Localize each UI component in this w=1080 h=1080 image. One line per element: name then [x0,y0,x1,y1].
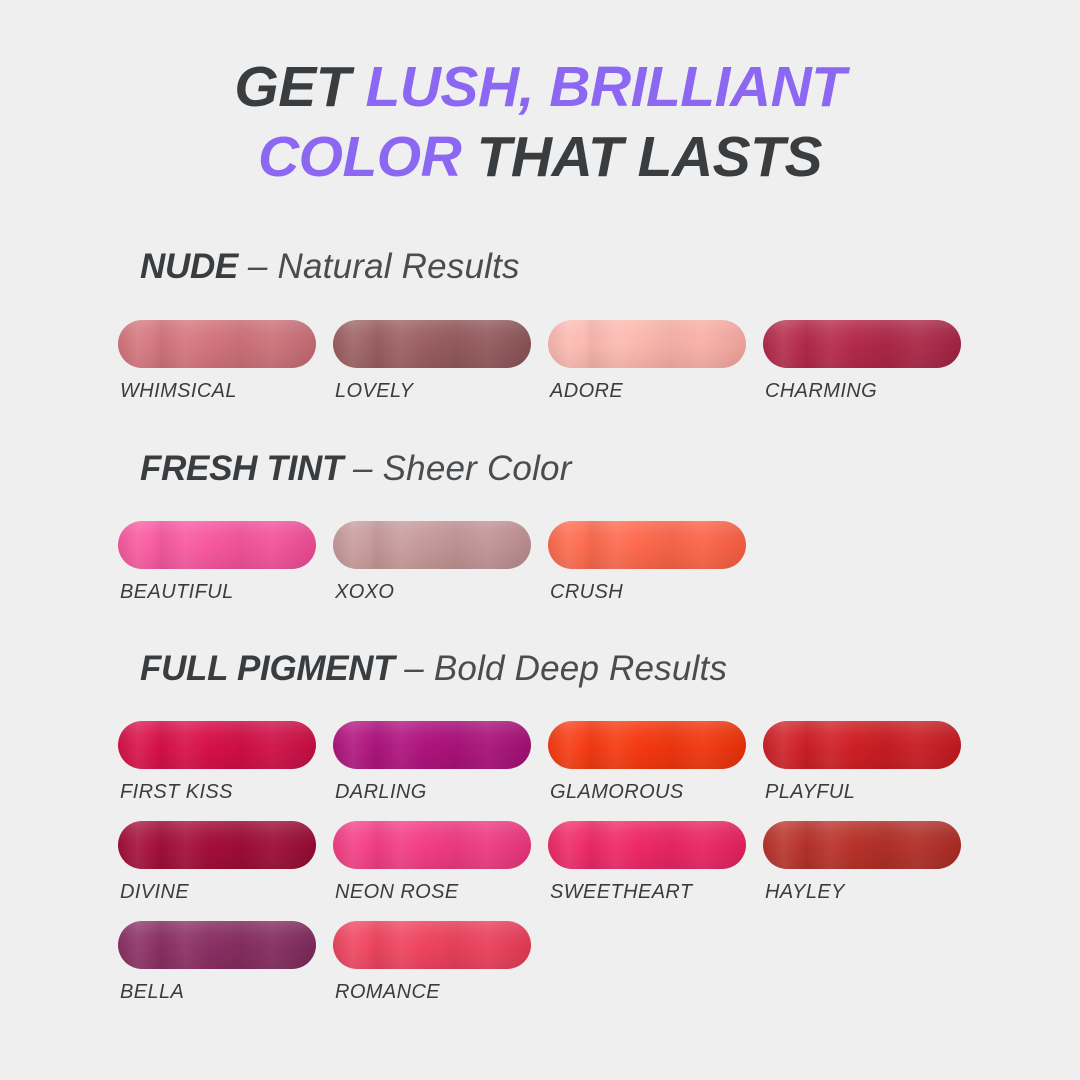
swatch-cell[interactable]: XOXO [333,521,548,621]
swatch-label: PLAYFUL [765,781,855,804]
swatch-label: CRUSH [550,581,623,604]
headline-text-lush-brilliant: LUSH, BRILLIANT [365,55,845,119]
swatch-label: DARLING [335,781,427,804]
swatch-chip-beautiful[interactable] [118,521,316,569]
section-heading-fresh-tint: FRESH TINT – Sheer Color [140,446,572,492]
swatch-chip-whimsical[interactable] [118,320,316,368]
swatch-label: BEAUTIFUL [120,581,234,604]
category-description-nude: – Natural Results [238,247,520,286]
headline-text-get: GET [234,55,365,119]
swatch-cell[interactable]: ROMANCE [333,921,548,1021]
swatch-chip-sweetheart[interactable] [548,821,746,869]
category-label-nude: NUDE [140,247,238,286]
swatch-cell[interactable]: NEON ROSE [333,821,548,921]
section-heading-full-pigment: FULL PIGMENT – Bold Deep Results [140,646,727,692]
swatch-label: ROMANCE [335,981,440,1004]
headline-line-2: COLOR THAT LASTS [0,122,1080,192]
category-label-full-pigment: FULL PIGMENT [140,649,394,688]
swatch-label: FIRST KISS [120,781,233,804]
category-description-full-pigment: – Bold Deep Results [394,649,727,688]
swatch-label: WHIMSICAL [120,380,237,403]
swatch-chip-romance[interactable] [333,921,531,969]
swatch-label: CHARMING [765,380,877,403]
swatch-label: XOXO [335,581,394,604]
swatch-chip-darling[interactable] [333,721,531,769]
swatch-label: BELLA [120,981,184,1004]
swatch-chip-hayley[interactable] [763,821,961,869]
swatch-label: LOVELY [335,380,413,403]
headline-text-that-lasts: THAT LASTS [461,125,822,189]
swatch-cell[interactable]: ADORE [548,320,763,420]
swatch-cell[interactable]: FIRST KISS [118,721,333,821]
swatch-chip-crush[interactable] [548,521,746,569]
category-description-fresh-tint: – Sheer Color [343,449,571,488]
swatch-label: SWEETHEART [550,881,693,904]
swatch-chip-lovely[interactable] [333,320,531,368]
swatch-label: GLAMOROUS [550,781,684,804]
headline-line-1: GET LUSH, BRILLIANT [0,52,1080,122]
section-heading-nude: NUDE – Natural Results [140,244,520,290]
swatch-grid-fresh-tint: BEAUTIFULXOXOCRUSH [118,521,998,621]
swatch-cell[interactable]: DARLING [333,721,548,821]
swatch-cell[interactable]: LOVELY [333,320,548,420]
swatch-label: ADORE [550,380,623,403]
swatch-cell[interactable]: CHARMING [763,320,978,420]
swatch-chip-glamorous[interactable] [548,721,746,769]
swatch-cell[interactable]: HAYLEY [763,821,978,921]
swatch-cell[interactable]: BEAUTIFUL [118,521,333,621]
swatch-label: NEON ROSE [335,881,459,904]
swatch-chip-first-kiss[interactable] [118,721,316,769]
swatch-chip-bella[interactable] [118,921,316,969]
swatch-cell[interactable]: DIVINE [118,821,333,921]
swatch-cell[interactable]: SWEETHEART [548,821,763,921]
swatch-chip-divine[interactable] [118,821,316,869]
category-label-fresh-tint: FRESH TINT [140,449,343,488]
swatch-cell[interactable]: GLAMOROUS [548,721,763,821]
headline-text-color: COLOR [258,125,461,189]
swatch-grid-full-pigment: FIRST KISSDARLINGGLAMOROUSPLAYFULDIVINEN… [118,721,998,1021]
swatch-label: DIVINE [120,881,189,904]
swatch-chip-xoxo[interactable] [333,521,531,569]
swatch-chip-playful[interactable] [763,721,961,769]
swatch-cell[interactable]: WHIMSICAL [118,320,333,420]
swatch-chip-charming[interactable] [763,320,961,368]
swatch-chip-neon-rose[interactable] [333,821,531,869]
swatch-cell[interactable]: CRUSH [548,521,763,621]
page-title: GET LUSH, BRILLIANT COLOR THAT LASTS [0,52,1080,192]
shade-chart-page: GET LUSH, BRILLIANT COLOR THAT LASTS NUD… [0,0,1080,1080]
swatch-cell[interactable]: BELLA [118,921,333,1021]
swatch-label: HAYLEY [765,881,845,904]
swatch-cell[interactable]: PLAYFUL [763,721,978,821]
swatch-grid-nude: WHIMSICALLOVELYADORECHARMING [118,320,998,420]
swatch-chip-adore[interactable] [548,320,746,368]
